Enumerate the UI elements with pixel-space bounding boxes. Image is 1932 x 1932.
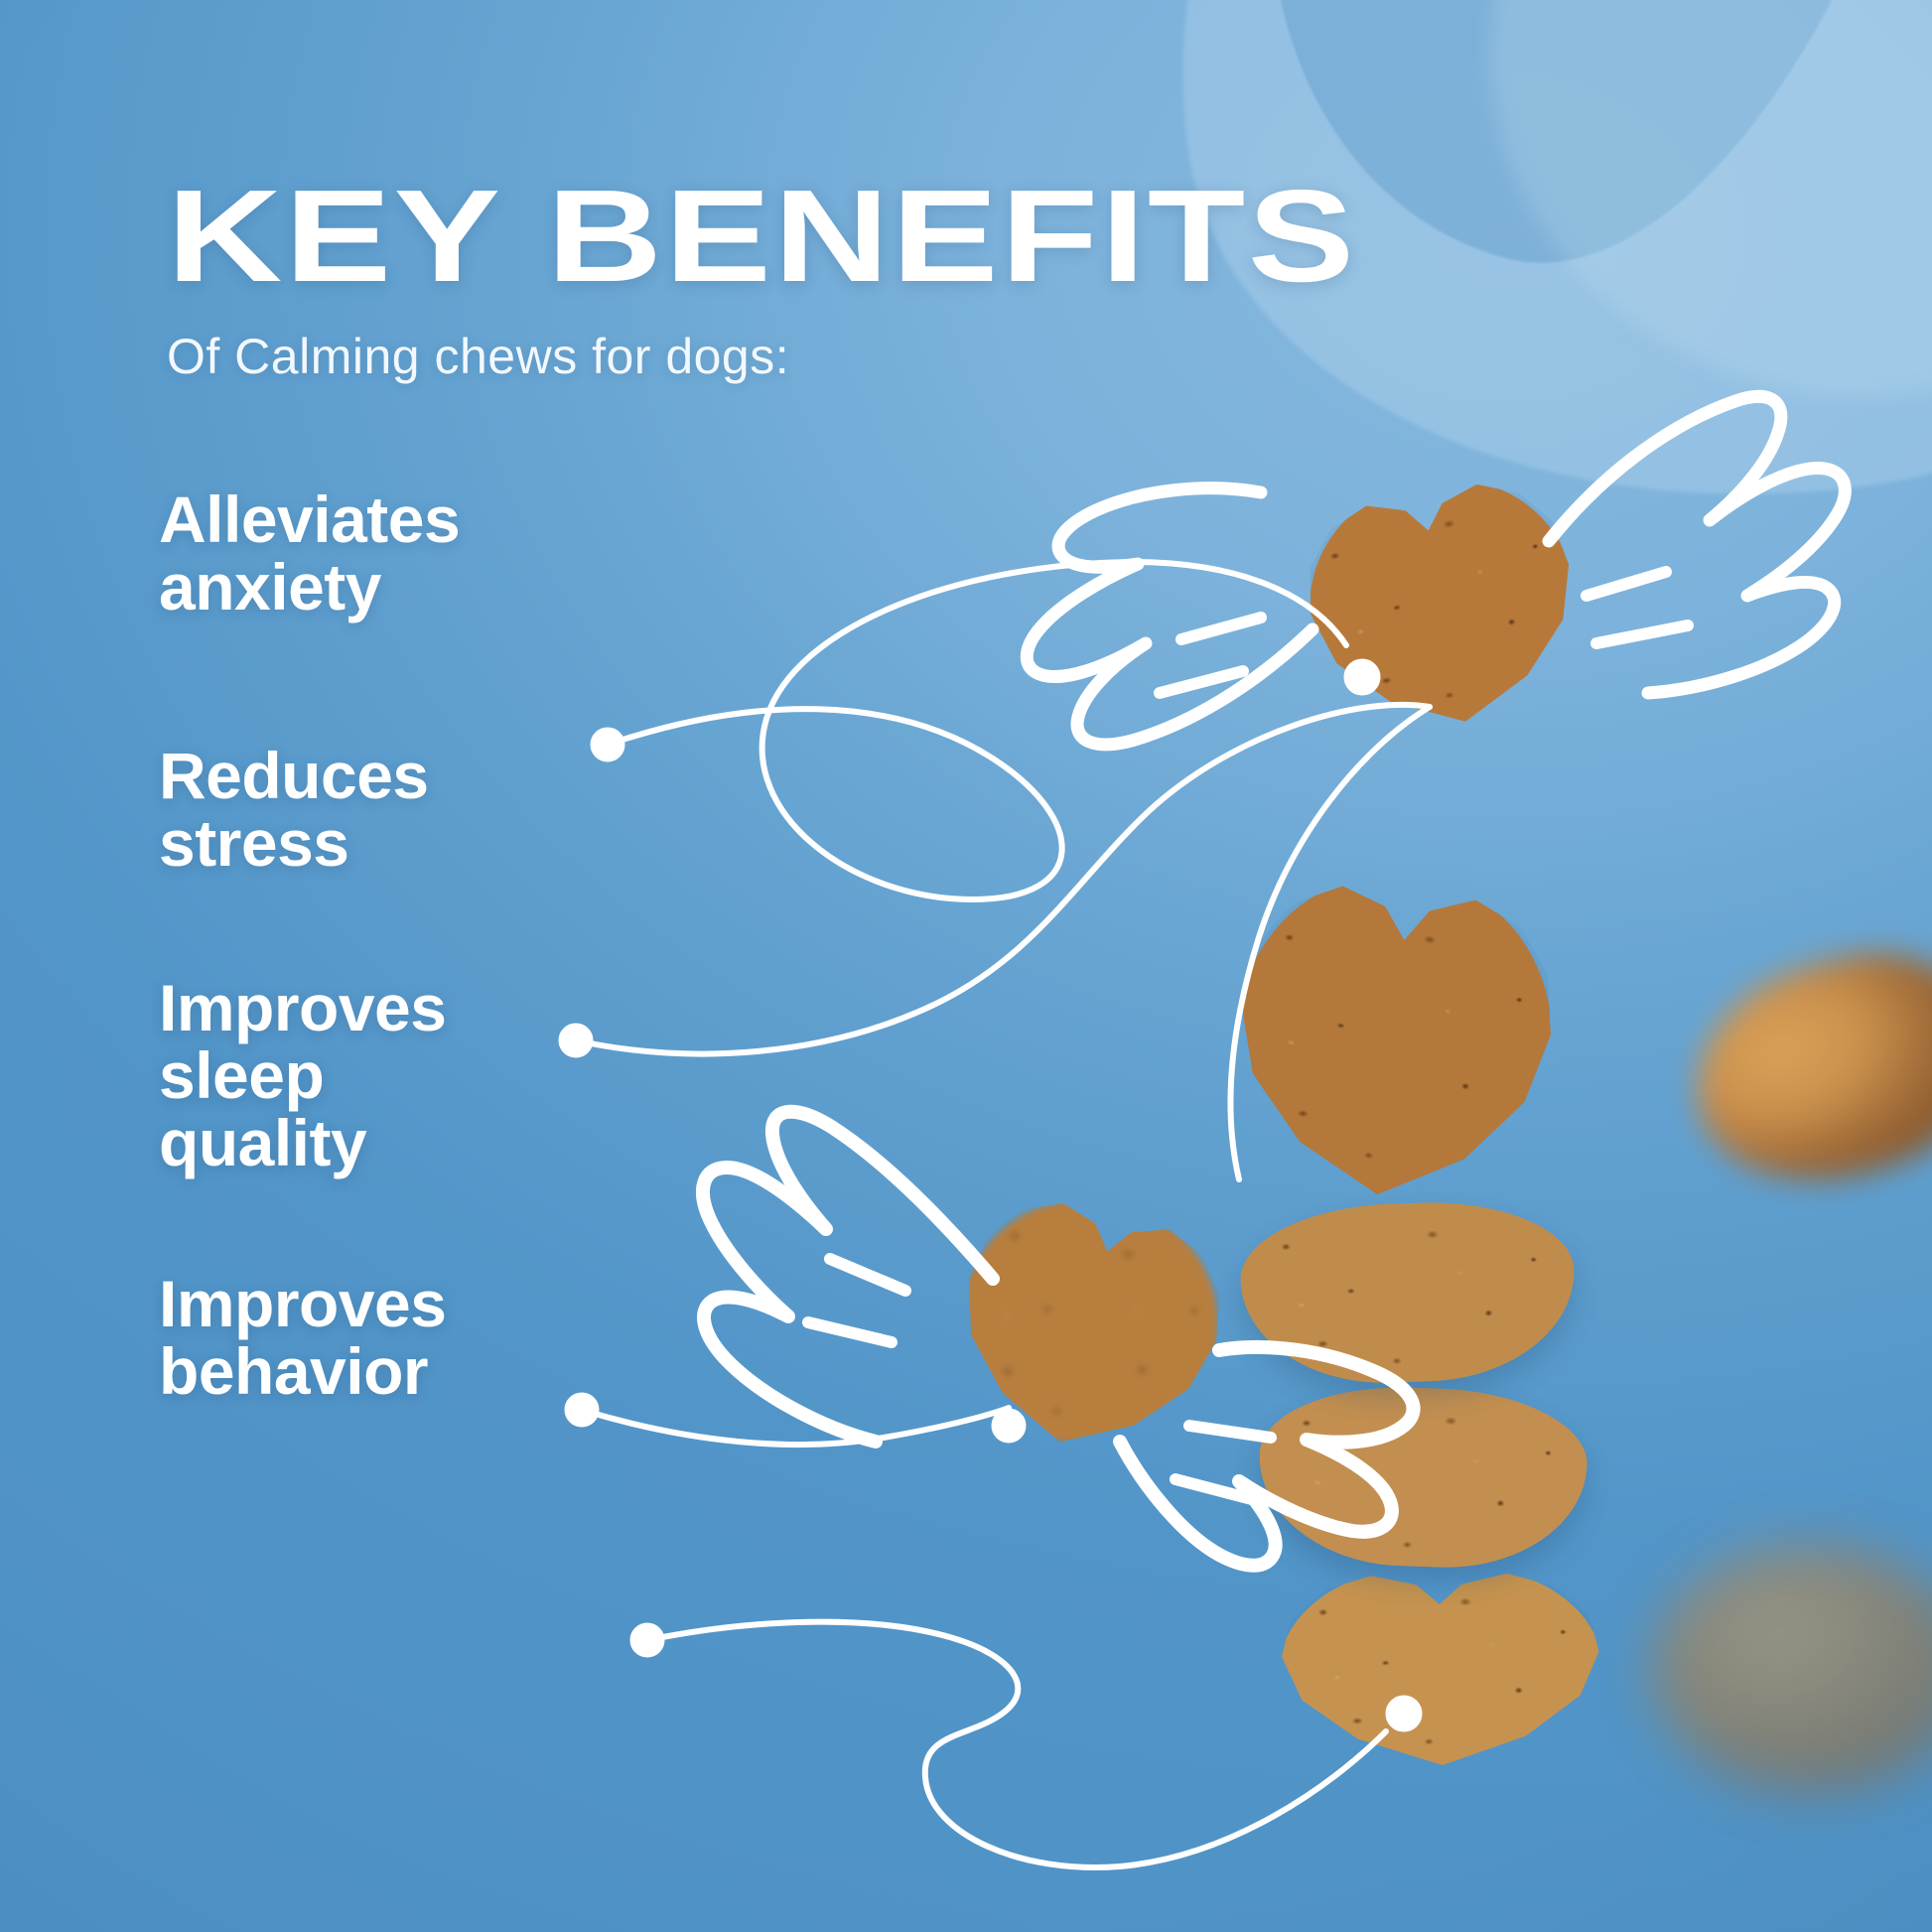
page-subtitle: Of Calming chews for dogs: [167,328,1457,385]
key-benefits-poster: KEY BENEFITS Of Calming chews for dogs: … [0,0,1932,1932]
benefit-label: Reduces stress [159,743,429,878]
page-title: KEY BENEFITS [167,171,1741,302]
benefit-item-anxiety: Alleviates anxiety [159,486,460,621]
benefit-item-stress: Reduces stress [159,743,429,878]
benefit-item-behavior: Improves behavior [159,1271,446,1406]
benefit-item-sleep: Improves sleep quality [159,975,446,1177]
benefit-label: Improves behavior [159,1271,446,1406]
benefit-label: Improves sleep quality [159,975,446,1177]
poster-header: KEY BENEFITS Of Calming chews for dogs: [167,171,1457,385]
benefit-label: Alleviates anxiety [159,486,460,621]
